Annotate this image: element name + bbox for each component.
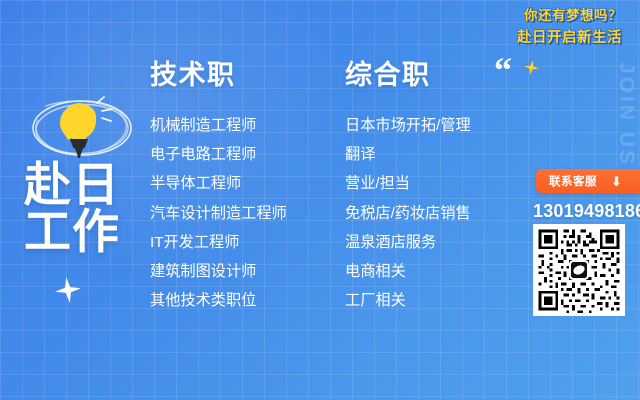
list-item[interactable]: IT开发工程师 — [150, 235, 287, 250]
list-item[interactable]: 营业/担当 — [345, 176, 471, 191]
page-title-line-1: 赴日 — [24, 162, 120, 209]
list-item[interactable]: 免税店/药妆店销售 — [345, 206, 471, 221]
poster-canvas: 你还有梦想吗？ 赴日开启新生活 JOIN US “ — [0, 0, 640, 400]
join-us-watermark: JOIN US — [616, 62, 637, 167]
list-item[interactable]: 翻译 — [345, 147, 471, 162]
slogan-line-2: 赴日开启新生活 — [517, 31, 622, 46]
list-item[interactable]: 半导体工程师 — [150, 176, 287, 191]
star-icon — [523, 59, 541, 77]
column-general: 综合职 日本市场开拓/管理 翻译 营业/担当 免税店/药妆店销售 温泉酒店服务 … — [345, 62, 471, 322]
quote-mark-icon: “ — [494, 52, 512, 88]
job-list-general: 日本市场开拓/管理 翻译 营业/担当 免税店/药妆店销售 温泉酒店服务 电商相关… — [345, 118, 471, 308]
list-item[interactable]: 其他技术类职位 — [150, 293, 287, 308]
column-technical: 技术职 机械制造工程师 电子电路工程师 半导体工程师 汽车设计制造工程师 IT开… — [150, 62, 287, 322]
list-item[interactable]: 建筑制图设计师 — [150, 264, 287, 279]
qr-code[interactable] — [533, 224, 625, 316]
list-item[interactable]: 工厂相关 — [345, 293, 471, 308]
arrow-down-icon: ⬇ — [611, 175, 622, 188]
page-title-line-2: 工作 — [24, 209, 120, 256]
column-heading-technical: 技术职 — [150, 62, 287, 89]
contact-support-label: 联系客服 — [549, 173, 597, 189]
list-item[interactable]: 温泉酒店服务 — [345, 235, 471, 250]
slogan-line-1: 你还有梦想吗？ — [524, 9, 622, 23]
page-title: 赴日 工作 — [24, 162, 120, 255]
list-item[interactable]: 电商相关 — [345, 264, 471, 279]
list-item[interactable]: 电子电路工程师 — [150, 147, 287, 162]
list-item[interactable]: 汽车设计制造工程师 — [150, 206, 287, 221]
job-list-technical: 机械制造工程师 电子电路工程师 半导体工程师 汽车设计制造工程师 IT开发工程师… — [150, 118, 287, 308]
list-item[interactable]: 机械制造工程师 — [150, 118, 287, 133]
sparkle-icon — [53, 275, 82, 304]
list-item[interactable]: 日本市场开拓/管理 — [345, 118, 471, 133]
phone-number[interactable]: 13019498186 — [533, 202, 640, 220]
column-heading-general: 综合职 — [345, 62, 471, 89]
contact-support-button[interactable]: 联系客服 ⬇ — [536, 169, 640, 193]
